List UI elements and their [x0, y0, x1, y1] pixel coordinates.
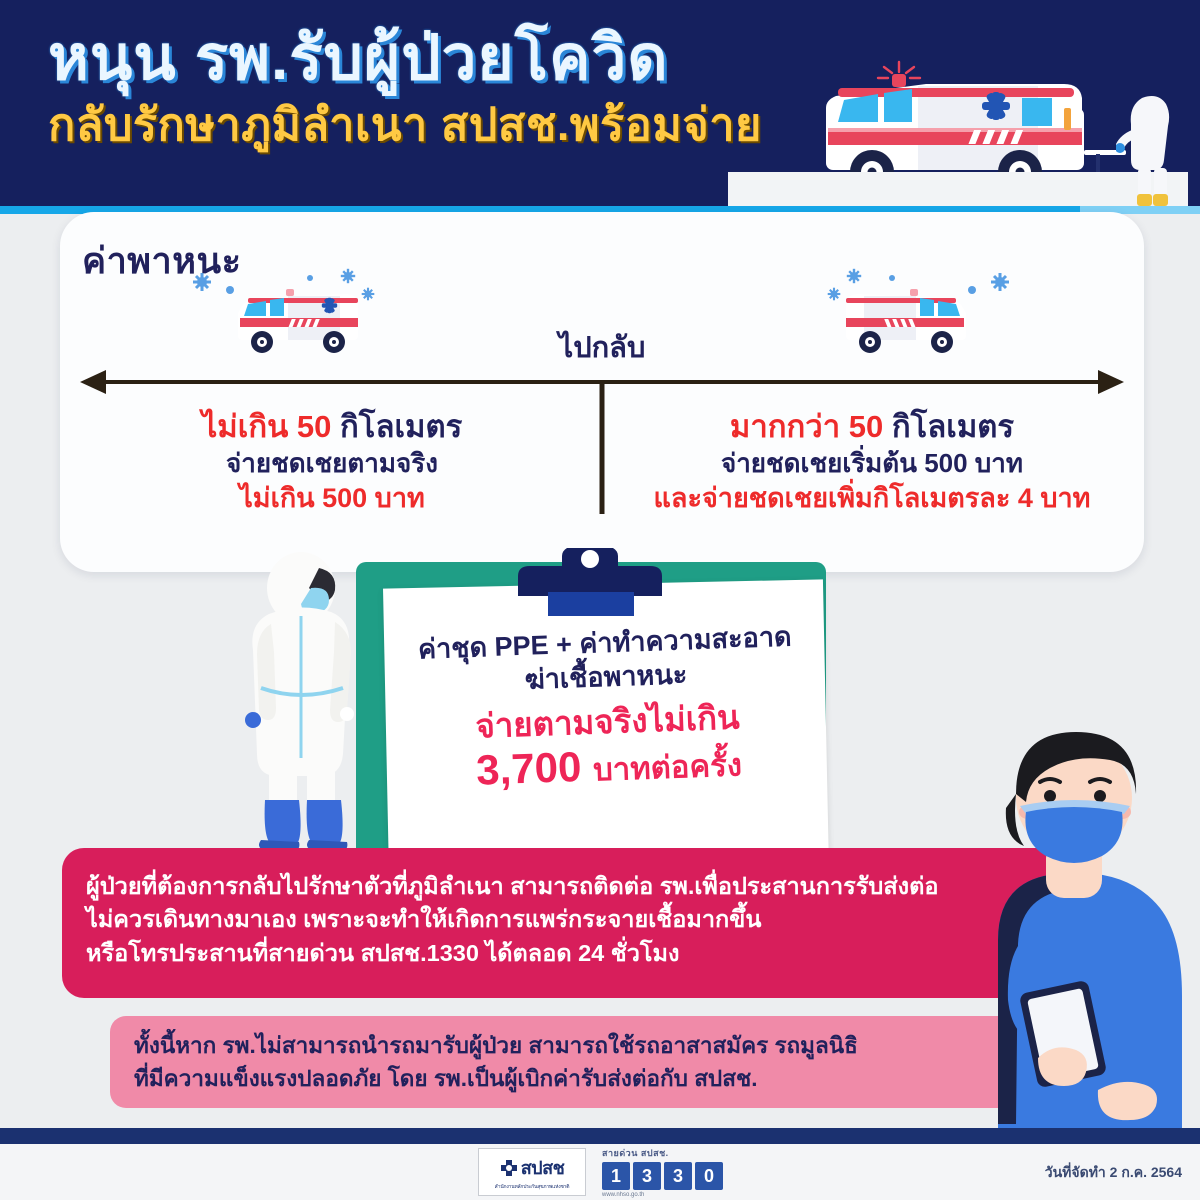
ppe-worker-svg — [1116, 90, 1186, 210]
infographic-page: หนุน รพ.รับผู้ป่วยโควิด กลับรักษาภูมิลำเ… — [0, 0, 1200, 1200]
secondary-notice-text: ทั้งนี้หาก รพ.ไม่สามารถนำรถมารับผู้ป่วย … — [110, 1016, 1078, 1095]
right-headline-red: มากกว่า 50 — [730, 409, 883, 444]
hotline-digit-3: 3 — [664, 1162, 692, 1190]
secondary-notice-banner: ทั้งนี้หาก รพ.ไม่สามารถนำรถมารับผู้ป่วย … — [110, 1016, 1078, 1108]
right-headline-navy: กิโลเมตร — [892, 409, 1014, 444]
hotline-digits: 1 3 3 0 — [602, 1162, 734, 1190]
right-line2: จ่ายชดเชยเริ่มต้น 500 บาท — [622, 447, 1122, 481]
ambulance-icon-left — [190, 264, 390, 364]
primary-notice-line3: หรือโทรประสานที่สายด่วน สปสช.1330 ได้ตลอ… — [86, 940, 680, 966]
primary-notice-text: ผู้ป่วยที่ต้องการกลับไปรักษาตัวที่ภูมิลำ… — [62, 848, 1078, 970]
right-line3: และจ่ายชดเชยเพิ่มกิโลเมตรละ 4 บาท — [622, 481, 1122, 516]
left-headline-navy: กิโลเมตร — [340, 409, 462, 444]
ambulance-icon-right — [814, 264, 1014, 364]
right-rate-column: มากกว่า 50 กิโลเมตร จ่ายชดเชยเริ่มต้น 50… — [622, 408, 1122, 516]
clipboard-text-group: ค่าชุด PPE + ค่าทำความสะอาด ฆ่าเชื้อพาหน… — [379, 618, 834, 798]
ppe-worker-icon — [215, 552, 395, 862]
left-headline: ไม่เกิน 50 กิโลเมตร — [82, 408, 582, 447]
secondary-notice-line1: ทั้งนี้หาก รพ.ไม่สามารถนำรถมารับผู้ป่วย … — [134, 1033, 858, 1058]
hotline-badge: สายด่วน สปสช. 1 3 3 0 www.nhso.go.th — [602, 1146, 734, 1198]
hotline-digit-4: 0 — [695, 1162, 723, 1190]
healthcare-worker-icon — [942, 690, 1192, 1130]
axis-arrow-right-icon — [1098, 370, 1124, 394]
nhso-logo-text: สปสช — [521, 1153, 565, 1182]
header-banner: หนุน รพ.รับผู้ป่วยโควิด กลับรักษาภูมิลำเ… — [0, 0, 1200, 214]
nhso-logo: สปสช สำนักงานหลักประกันสุขภาพแห่งชาติ — [478, 1148, 586, 1196]
page-title-line1: หนุน รพ.รับผู้ป่วยโควิด — [48, 26, 762, 93]
header-title-group: หนุน รพ.รับผู้ป่วยโควิด กลับรักษาภูมิลำเ… — [48, 26, 762, 151]
hotline-digit-2: 3 — [633, 1162, 661, 1190]
footer-divider-bar — [0, 1128, 1200, 1144]
left-line2: จ่ายชดเชยตามจริง — [82, 447, 582, 481]
hotline-label: สายด่วน สปสช. — [602, 1146, 734, 1160]
footer: สปสช สำนักงานหลักประกันสุขภาพแห่งชาติ สา… — [0, 1144, 1200, 1200]
nhso-cross-icon — [500, 1159, 518, 1177]
primary-notice-line1: ผู้ป่วยที่ต้องการกลับไปรักษาตัวที่ภูมิลำ… — [86, 873, 939, 899]
left-line3: ไม่เกิน 500 บาท — [82, 481, 582, 516]
clipboard-clip-svg — [490, 548, 690, 616]
healthcare-worker-svg — [942, 690, 1192, 1130]
ppe-worker-standing-svg — [215, 552, 395, 862]
transport-fee-card: ค่าพาหนะ ไปกลับ — [60, 212, 1144, 572]
date-stamp: วันที่จัดทำ 2 ก.ค. 2564 — [1045, 1162, 1182, 1184]
primary-notice-banner: ผู้ป่วยที่ต้องการกลับไปรักษาตัวที่ภูมิลำ… — [62, 848, 1078, 998]
hotline-url: www.nhso.go.th — [602, 1192, 734, 1198]
ppe-cost-clipboard: ค่าชุด PPE + ค่าทำความสะอาด ฆ่าเชื้อพาหน… — [330, 548, 850, 868]
ambulance-icon — [808, 56, 1138, 206]
ppe-cost-amount: 3,700 — [475, 743, 582, 794]
right-headline: มากกว่า 50 กิโลเมตร — [622, 408, 1122, 447]
hotline-digit-1: 1 — [602, 1162, 630, 1190]
nhso-logo-subtext: สำนักงานหลักประกันสุขภาพแห่งชาติ — [495, 1183, 570, 1191]
primary-notice-line2: ไม่ควรเดินทางมาเอง เพราะจะทำให้เกิดการแพ… — [86, 906, 761, 932]
ambulance-small-left-svg — [190, 264, 390, 364]
nhso-logo-main: สปสช — [500, 1153, 565, 1182]
axis-divider — [600, 382, 605, 514]
left-rate-column: ไม่เกิน 50 กิโลเมตร จ่ายชดเชยตามจริง ไม่… — [82, 408, 582, 516]
ambulance-small-right-svg — [814, 264, 1014, 364]
secondary-notice-line2: ที่มีความแข็งแรงปลอดภัย โดย รพ.เป็นผู้เบ… — [134, 1066, 757, 1091]
left-headline-red: ไม่เกิน 50 — [202, 409, 332, 444]
ppe-worker-icon — [1116, 90, 1186, 210]
clipboard-clip-icon — [490, 548, 690, 616]
ppe-cost-amount-unit: บาทต่อครั้ง — [593, 747, 743, 787]
page-title-line2: กลับรักษาภูมิลำเนา สปสช.พร้อมจ่าย — [48, 99, 762, 151]
